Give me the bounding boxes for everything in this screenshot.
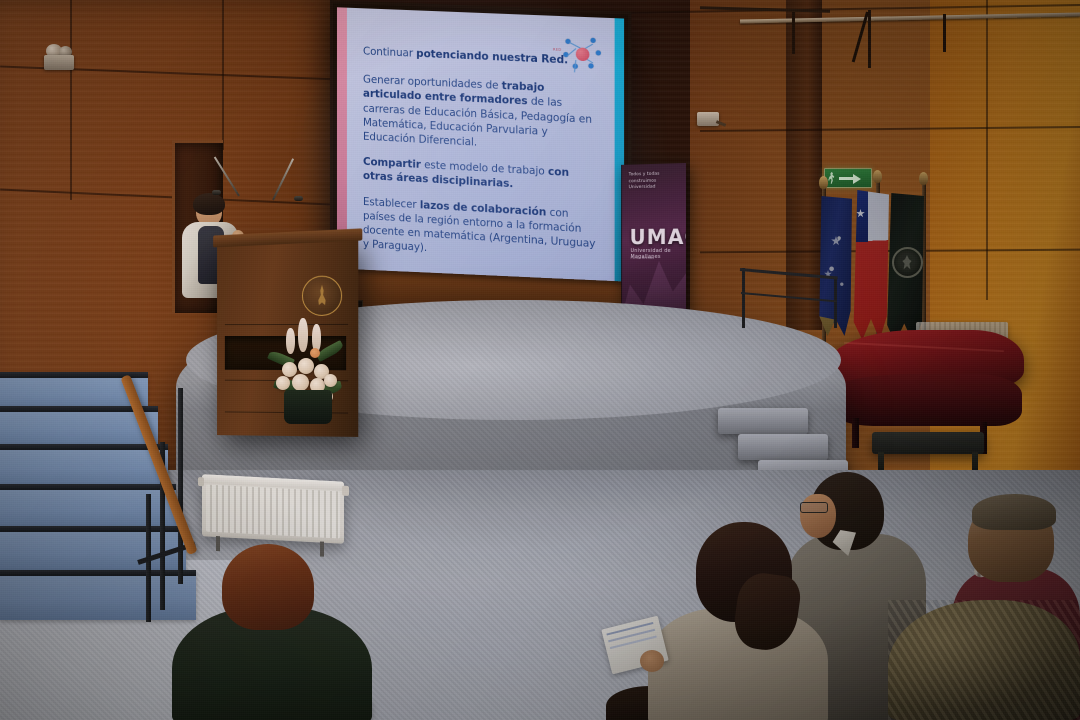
- wall-seam: [222, 0, 224, 150]
- podium-crest-icon: [302, 276, 342, 316]
- audience-member-center: [648, 522, 828, 720]
- lighting-truss: [700, 0, 1080, 70]
- handrail[interactable]: [120, 376, 134, 556]
- slide-paragraph-1: Continuar potenciando nuestra Red.: [363, 44, 597, 69]
- arrow-right-icon: [839, 174, 868, 183]
- slide-paragraph-3: Compartir este modelo de trabajo con otr…: [363, 155, 597, 197]
- slide-paragraph-2: Generar oportunidades de trabajo articul…: [363, 73, 597, 156]
- flagpole-finial: [819, 176, 828, 189]
- stage-step: [718, 408, 808, 434]
- flower-arrangement: [266, 318, 350, 424]
- emergency-exit-sign-icon: [824, 168, 872, 188]
- wall-radiator: [202, 474, 344, 543]
- stair-step: [0, 526, 186, 572]
- auditorium-photo: RED Continuar potenciando nuestra Red. G…: [0, 0, 1080, 720]
- audience-member-fur: [888, 600, 1080, 720]
- flag-university: [886, 193, 924, 343]
- wall-box: [697, 112, 719, 126]
- flagpole-finial: [873, 170, 882, 183]
- network-logo-label: RED: [553, 47, 561, 51]
- glasses-icon: [800, 502, 828, 513]
- slide-paragraph-4: Establecer lazos de colaboración con paí…: [363, 195, 597, 267]
- stage-handrail: [738, 268, 838, 330]
- emergency-light-icon: [42, 44, 76, 70]
- flagpole-finial: [919, 172, 928, 185]
- stage-step: [738, 434, 828, 460]
- banner-brand: UMAG: [630, 225, 686, 249]
- banner-subtitle-secondary: Punta Arenas: [631, 256, 655, 260]
- projection-screen: RED Continuar potenciando nuestra Red. G…: [330, 0, 631, 308]
- slide-text-block: Continuar potenciando nuestra Red. Gener…: [363, 44, 597, 277]
- wall-seam: [70, 0, 72, 200]
- running-figure-icon: [828, 172, 836, 184]
- grand-piano: [828, 330, 1024, 440]
- audience-member-left: [172, 544, 372, 720]
- stair-step: [0, 570, 196, 620]
- banner-tagline: Todos y todas construimos Universidad: [629, 171, 681, 192]
- flag-chile: [853, 190, 889, 340]
- piano-bench: [872, 432, 984, 454]
- stair-step: [0, 444, 168, 486]
- slide-surface: RED Continuar potenciando nuestra Red. G…: [337, 7, 624, 300]
